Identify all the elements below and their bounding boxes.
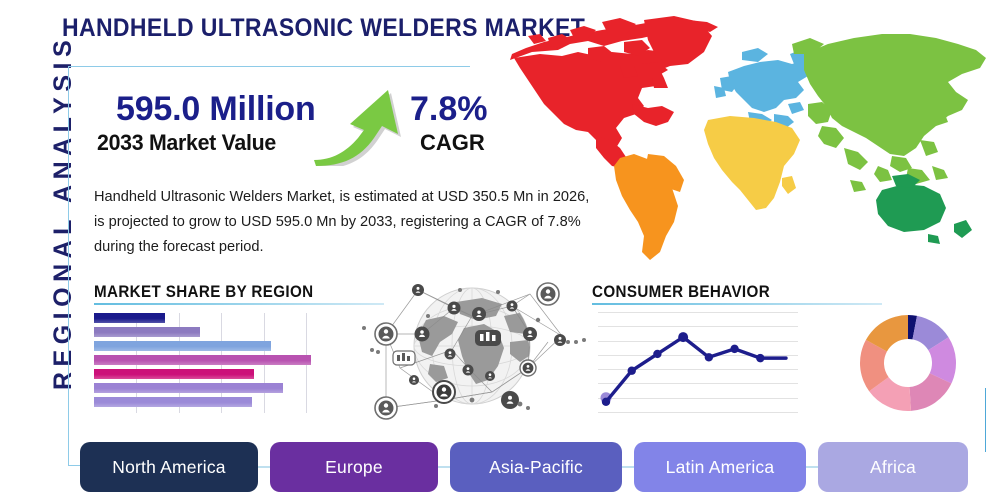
region-button-bar: North AmericaEuropeAsia-PacificLatin Ame…	[80, 442, 986, 492]
bar-chart-bar-fill	[94, 355, 311, 365]
bar-chart-bar-fill	[94, 313, 165, 323]
infographic-canvas: REGIONAL ANALYSIS HANDHELD ULTRASONIC WE…	[0, 0, 1000, 500]
up-trend-arrow-icon	[310, 84, 406, 166]
cagr-label: CAGR	[420, 130, 485, 156]
bar-chart-bar	[94, 327, 200, 337]
bar-chart-bar-fill	[94, 383, 283, 393]
bar-chart-bar	[94, 341, 271, 351]
donut-chart-segments	[856, 311, 960, 415]
bar-chart-bar	[94, 383, 283, 393]
consumer-behavior-heading-rule	[592, 303, 882, 305]
bar-chart-bar	[94, 397, 252, 407]
region-button-north-america[interactable]: North America	[80, 442, 258, 492]
region-button-label: Europe	[325, 457, 383, 478]
bar-chart-bar-fill	[94, 397, 252, 407]
consumer-behavior-heading: CONSUMER BEHAVIOR	[592, 283, 770, 302]
market-description: Handheld Ultrasonic Welders Market, is e…	[94, 185, 594, 260]
vertical-section-label: REGIONAL ANALYSIS	[49, 60, 89, 390]
kpi-row: 595.0 Million 2033 Market Value 7.8% CAG…	[96, 92, 516, 170]
market-value-number: 595.0 Million	[116, 90, 316, 129]
bar-chart-bar	[94, 369, 254, 379]
region-button-label: Latin America	[666, 457, 775, 478]
region-button-africa[interactable]: Africa	[818, 442, 968, 492]
bar-chart-bar	[94, 355, 311, 365]
bar-chart-bar-fill	[94, 327, 200, 337]
region-button-label: North America	[112, 457, 225, 478]
consumer-behavior-line-chart	[598, 312, 798, 412]
market-value-label: 2033 Market Value	[97, 130, 276, 156]
region-button-latin-america[interactable]: Latin America	[634, 442, 806, 492]
region-button-label: Asia-Pacific	[489, 457, 583, 478]
market-share-heading: MARKET SHARE BY REGION	[94, 283, 314, 302]
region-button-europe[interactable]: Europe	[270, 442, 438, 492]
global-network-icon	[352, 272, 592, 422]
line-chart-series	[598, 312, 798, 412]
region-button-asia-pacific[interactable]: Asia-Pacific	[450, 442, 622, 492]
bar-chart-bar-fill	[94, 369, 254, 379]
consumer-behavior-donut-chart	[856, 311, 960, 415]
bar-chart-bar-fill	[94, 341, 271, 351]
market-share-heading-rule	[94, 303, 384, 305]
region-button-label: Africa	[870, 457, 916, 478]
line-chart-gridline	[598, 412, 798, 413]
market-share-bar-chart	[94, 313, 330, 413]
cagr-number: 7.8%	[410, 90, 488, 129]
bar-chart-bar	[94, 313, 165, 323]
